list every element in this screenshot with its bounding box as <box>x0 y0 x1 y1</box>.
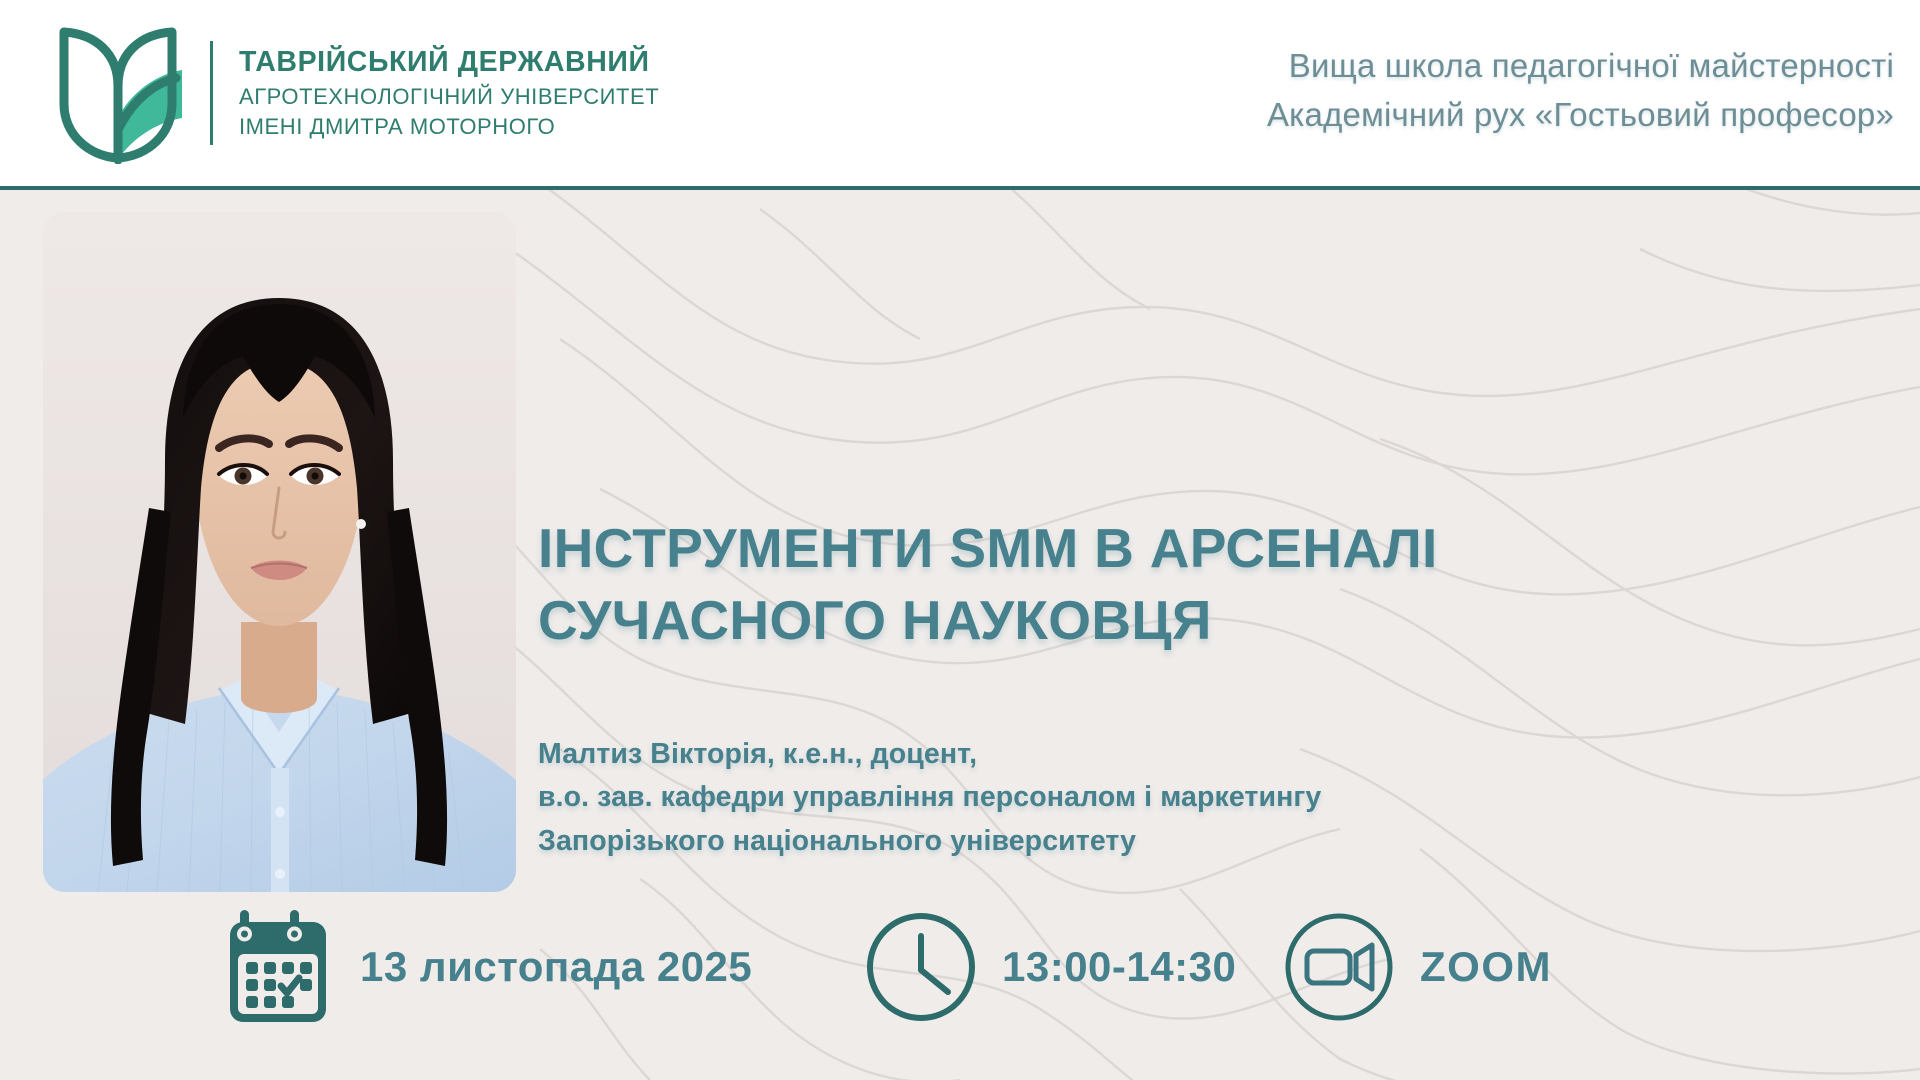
speaker-line-1: Малтиз Вікторія, к.е.н., доцент, <box>538 733 1598 776</box>
university-brand: ТАВРІЙСЬКИЙ ДЕРЖАВНИЙ АГРОТЕХНОЛОГІЧНИЙ … <box>42 22 659 164</box>
header-subtitle-line-2: Академічний рух «Гостьовий професор» <box>1267 91 1894 140</box>
clock-icon <box>862 908 980 1026</box>
brand-line-1: ТАВРІЙСЬКИЙ ДЕРЖАВНИЙ <box>239 44 659 82</box>
event-date-item: 13 листопада 2025 <box>228 908 752 1026</box>
brand-line-3: ІМЕНІ ДМИТРА МОТОРНОГО <box>239 112 659 142</box>
brand-divider <box>210 41 213 145</box>
event-time-item: 13:00-14:30 <box>862 908 1236 1026</box>
header-divider-rule <box>0 186 1920 190</box>
event-time-label: 13:00-14:30 <box>1002 946 1236 988</box>
speaker-line-3: Запорізького національного університету <box>538 820 1598 863</box>
brand-line-2: АГРОТЕХНОЛОГІЧНИЙ УНІВЕРСИТЕТ <box>239 82 659 112</box>
leaf-book-logo-icon <box>42 22 194 164</box>
header-bar: ТАВРІЙСЬКИЙ ДЕРЖАВНИЙ АГРОТЕХНОЛОГІЧНИЙ … <box>0 0 1920 189</box>
event-date-label: 13 листопада 2025 <box>360 946 752 988</box>
event-title-line-2: СУЧАСНОГО НАУКОВЦЯ <box>538 585 1578 657</box>
speaker-portrait-photo <box>43 212 516 892</box>
header-subtitle-block: Вища школа педагогічної майстерності Ака… <box>1267 42 1894 140</box>
event-platform-label: ZOOM <box>1420 946 1552 988</box>
event-platform-item: ZOOM <box>1280 908 1552 1026</box>
calendar-icon <box>228 908 338 1026</box>
header-subtitle-line-1: Вища школа педагогічної майстерності <box>1267 42 1894 91</box>
event-title-line-1: ІНСТРУМЕНТИ SMM В АРСЕНАЛІ <box>538 513 1578 585</box>
poster-canvas: ТАВРІЙСЬКИЙ ДЕРЖАВНИЙ АГРОТЕХНОЛОГІЧНИЙ … <box>0 0 1920 1080</box>
video-camera-icon <box>1280 908 1398 1026</box>
brand-text-block: ТАВРІЙСЬКИЙ ДЕРЖАВНИЙ АГРОТЕХНОЛОГІЧНИЙ … <box>239 44 659 143</box>
speaker-line-2: в.о. зав. кафедри управління персоналом … <box>538 776 1598 819</box>
event-title: ІНСТРУМЕНТИ SMM В АРСЕНАЛІ СУЧАСНОГО НАУ… <box>538 513 1578 656</box>
footer-details-bar: 13 листопада 2025 13:00-14:30 ZOOM <box>0 900 1920 1070</box>
speaker-credentials: Малтиз Вікторія, к.е.н., доцент, в.о. за… <box>538 733 1598 863</box>
